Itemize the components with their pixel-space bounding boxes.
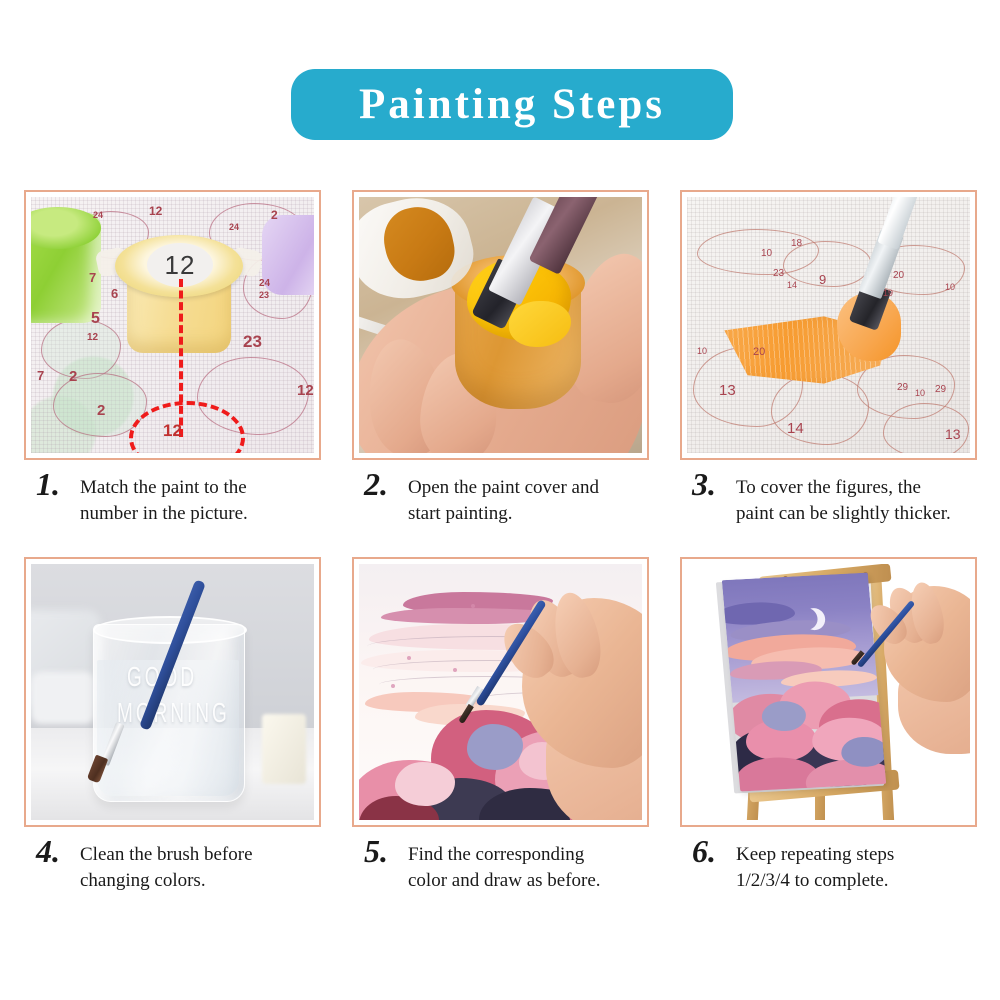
step-5-line-1: Find the corresponding	[408, 844, 584, 865]
step-6-line-2: 1/2/3/4 to complete.	[736, 870, 889, 891]
step-2-caption: 2. Open the paint cover and start painti…	[352, 471, 656, 527]
step-5-caption: 5. Find the corresponding color and draw…	[352, 838, 656, 894]
step-6-text: Keep repeating steps 1/2/3/4 to complete…	[736, 838, 894, 894]
number-dot	[453, 668, 457, 672]
step-6-number: 6.	[692, 838, 726, 864]
canvas-number: 24	[93, 211, 103, 220]
canvas-number: 20	[893, 271, 904, 281]
step-6-caption: 6. Keep repeating steps 1/2/3/4 to compl…	[680, 838, 984, 894]
step-1-line-2: number in the picture.	[80, 503, 248, 524]
step-6-line-1: Keep repeating steps	[736, 844, 894, 865]
finished-painting-on-easel-photo	[687, 564, 970, 820]
canvas-number: 19	[883, 289, 893, 298]
step-4-line-1: Clean the brush before	[80, 844, 253, 865]
canvas-number: 14	[787, 281, 797, 290]
step-4-line-2: changing colors.	[80, 870, 206, 891]
step-1-number: 1.	[36, 471, 70, 497]
canvas-number: 18	[791, 239, 802, 249]
step-1-line-1: Match the paint to the	[80, 477, 247, 498]
step-1-text: Match the paint to the number in the pic…	[80, 471, 248, 527]
canvas-number: 23	[773, 269, 784, 279]
paint-pot-number-match-photo: 12 12 12 24 2 24 7 6 5 12 24 23 23 7	[31, 197, 314, 453]
canvas-number: 13	[945, 427, 961, 441]
canvas-number: 7	[89, 271, 96, 284]
canvas-number: 10	[761, 249, 772, 259]
page-title: Painting Steps	[359, 83, 665, 126]
step-cell-3: 10 18 23 9 14 20 10 19 10 20 13 29 10 29…	[680, 190, 984, 527]
number-dot	[471, 604, 475, 608]
number-dot	[391, 684, 395, 688]
canvas-number: 13	[719, 383, 736, 398]
canvas-number: 23	[243, 333, 262, 350]
step-2-line-1: Open the paint cover and	[408, 477, 599, 498]
canvas-number: 24	[229, 223, 239, 232]
step-1-photo-frame: 12 12 12 24 2 24 7 6 5 12 24 23 23 7	[24, 190, 321, 460]
partially-painted-canvas-photo	[359, 564, 642, 820]
step-cell-5: 5. Find the corresponding color and draw…	[352, 557, 656, 894]
canvas-number: 12	[297, 383, 314, 398]
printed-shape	[41, 319, 121, 379]
page-title-banner: Painting Steps	[291, 69, 733, 140]
canvas-number: 29	[935, 385, 946, 395]
canvas-number: 6	[111, 287, 118, 300]
blurred-object	[31, 672, 95, 724]
canvas-number: 24	[259, 279, 270, 289]
highlighted-canvas-number: 12	[163, 421, 182, 441]
canvas-number: 20	[753, 347, 765, 358]
step-2-number: 2.	[364, 471, 398, 497]
step-6-photo-frame	[680, 557, 977, 827]
canvas-number: 23	[259, 291, 269, 300]
canvas-number: 7	[37, 369, 44, 382]
step-cell-1: 12 12 12 24 2 24 7 6 5 12 24 23 23 7	[24, 190, 328, 527]
canvas-number: 9	[819, 273, 826, 286]
step-3-text: To cover the figures, the paint can be s…	[736, 471, 951, 527]
painting-steps-grid: 12 12 12 24 2 24 7 6 5 12 24 23 23 7	[0, 190, 1000, 924]
thick-paint-strokes-photo: 10 18 23 9 14 20 10 19 10 20 13 29 10 29…	[687, 197, 970, 453]
canvas-number: 12	[149, 205, 162, 217]
canvas-number: 10	[697, 347, 707, 356]
canvas-number: 14	[787, 421, 804, 436]
step-1-caption: 1. Match the paint to the number in the …	[24, 471, 328, 527]
step-4-caption: 4. Clean the brush before changing color…	[24, 838, 328, 894]
finished-canvas	[722, 573, 886, 792]
canvas-number: 2	[97, 403, 105, 418]
blurred-object	[262, 714, 306, 784]
rinse-brush-in-glass-photo: GOOD MORNING	[31, 564, 314, 820]
step-cell-6: 6. Keep repeating steps 1/2/3/4 to compl…	[680, 557, 984, 894]
canvas-number: 5	[91, 311, 100, 327]
step-5-text: Find the corresponding color and draw as…	[408, 838, 601, 894]
step-3-line-1: To cover the figures, the	[736, 477, 921, 498]
step-3-photo-frame: 10 18 23 9 14 20 10 19 10 20 13 29 10 29…	[680, 190, 977, 460]
steps-row-2: GOOD MORNING 4. Clean the brush before c…	[0, 557, 1000, 894]
step-4-number: 4.	[36, 838, 70, 864]
glass-text-line-2: MORNING	[117, 699, 230, 731]
canvas-number: 29	[897, 383, 908, 393]
step-4-text: Clean the brush before changing colors.	[80, 838, 253, 894]
steps-row-1: 12 12 12 24 2 24 7 6 5 12 24 23 23 7	[0, 190, 1000, 527]
number-dot	[407, 656, 411, 660]
step-2-photo-frame	[352, 190, 649, 460]
step-3-caption: 3. To cover the figures, the paint can b…	[680, 471, 984, 527]
step-cell-4: GOOD MORNING 4. Clean the brush before c…	[24, 557, 328, 894]
step-4-photo-frame: GOOD MORNING	[24, 557, 321, 827]
canvas-number: 10	[945, 283, 955, 292]
canvas-number: 10	[915, 389, 925, 398]
printed-shape	[771, 373, 869, 445]
step-2-text: Open the paint cover and start painting.	[408, 471, 599, 527]
canvas-number: 12	[87, 333, 98, 343]
step-3-line-2: paint can be slightly thicker.	[736, 503, 951, 524]
step-5-line-2: color and draw as before.	[408, 870, 601, 891]
canvas-number: 2	[69, 369, 77, 384]
step-cell-2: 2. Open the paint cover and start painti…	[352, 190, 656, 527]
glass-rim	[93, 616, 247, 644]
step-3-number: 3.	[692, 471, 726, 497]
step-5-number: 5.	[364, 838, 398, 864]
open-paint-pot-photo	[359, 197, 642, 453]
step-5-photo-frame	[352, 557, 649, 827]
step-2-line-2: start painting.	[408, 503, 512, 524]
canvas-number: 2	[271, 209, 278, 221]
